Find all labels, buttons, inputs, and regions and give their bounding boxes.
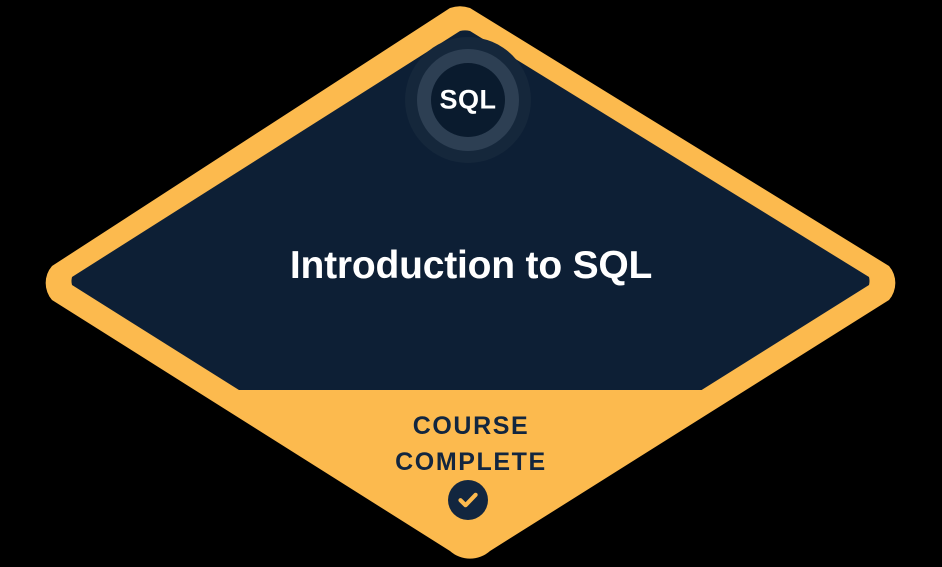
completion-label-line-2: COMPLETE xyxy=(0,444,942,480)
emblem-label: SQL xyxy=(439,87,496,114)
completion-label-line-1: COURSE xyxy=(0,408,942,444)
check-circle-icon xyxy=(448,480,488,520)
course-completion-badge: SQL Introduction to SQL COURSE COMPLETE xyxy=(0,0,942,567)
completion-footer: COURSE COMPLETE xyxy=(0,408,942,480)
course-title: Introduction to SQL xyxy=(0,244,942,289)
